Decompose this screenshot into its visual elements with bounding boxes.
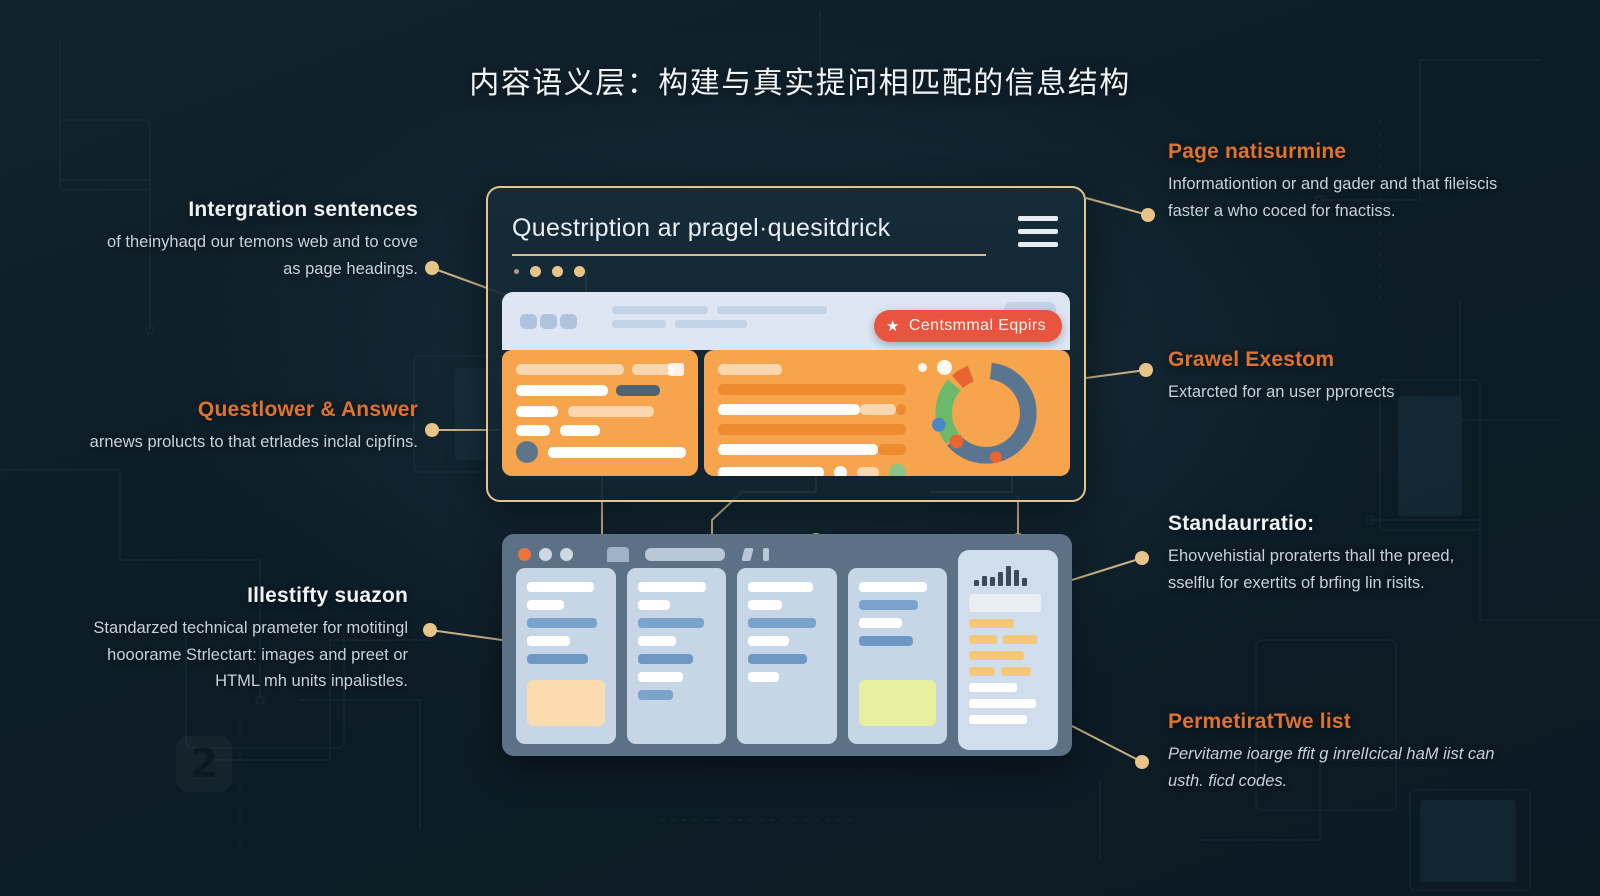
placeholder-bar bbox=[638, 618, 705, 628]
placeholder-bar-yellow bbox=[1001, 667, 1031, 676]
annotation-right-4-body: Pervitame ioarge ffit g inrelIcical haM … bbox=[1168, 741, 1498, 794]
annotation-right-2: Grawel Exestom Extarcted for an user ppr… bbox=[1168, 348, 1498, 406]
watermark-glyph: 2 bbox=[176, 736, 232, 792]
grid-card-2[interactable] bbox=[627, 568, 727, 744]
card-grid bbox=[516, 568, 1058, 744]
placeholder-bar bbox=[527, 654, 588, 664]
annotation-right-1-heading: Page natisurmine bbox=[1168, 140, 1498, 164]
annotation-right-3: Standaurratio: Ehovvehistial proraterts … bbox=[1168, 512, 1498, 596]
placeholder-bar bbox=[969, 594, 1040, 612]
placeholder-bar bbox=[638, 654, 694, 664]
card-header-title: Questription ar pragel·quesitdrick bbox=[512, 214, 1060, 243]
annotation-right-2-body: Extarcted for an user pprorects bbox=[1168, 379, 1498, 406]
step-dot bbox=[530, 266, 541, 277]
grid-card-3[interactable] bbox=[737, 568, 837, 744]
placeholder-bar bbox=[527, 600, 564, 610]
placeholder-bar bbox=[748, 636, 788, 646]
infographic-canvas: 2 内容语义层：构建与真实提问相匹配的信息结构 bbox=[0, 0, 1600, 896]
placeholder-bar bbox=[612, 306, 708, 314]
placeholder-bar-dark bbox=[616, 385, 660, 396]
placeholder-bar bbox=[638, 690, 674, 700]
hamburger-icon[interactable] bbox=[1018, 216, 1058, 255]
placeholder-bar bbox=[859, 582, 927, 592]
placeholder-bar bbox=[969, 683, 1017, 692]
header-divider bbox=[512, 254, 986, 256]
placeholder-bar-yellow bbox=[969, 667, 995, 676]
annotation-left-1-body: of theinyhaqd our temons web and to cove… bbox=[88, 229, 418, 282]
placeholder-bar bbox=[718, 467, 824, 476]
donut-chart bbox=[916, 364, 1056, 462]
placeholder-bar bbox=[748, 582, 813, 592]
hamburger-bar bbox=[1018, 229, 1058, 234]
bubble-small-icon bbox=[918, 363, 927, 372]
placeholder-bar bbox=[527, 582, 594, 592]
placeholder-bar bbox=[860, 404, 896, 415]
placeholder-lines bbox=[612, 306, 827, 334]
placeholder-bar bbox=[859, 600, 918, 610]
traffic-light-minimize[interactable] bbox=[539, 548, 552, 561]
annotation-right-3-heading: Standaurratio: bbox=[1168, 512, 1498, 536]
placeholder-bar-deep bbox=[718, 384, 906, 395]
placeholder-bar bbox=[516, 406, 558, 417]
orange-panel-right[interactable] bbox=[704, 350, 1070, 476]
main-content-card[interactable]: Questription ar pragel·quesitdrick bbox=[486, 186, 1086, 502]
bookmark-icon[interactable] bbox=[741, 548, 753, 561]
placeholder-bar-yellow bbox=[969, 635, 997, 644]
avatar bbox=[540, 314, 557, 329]
annotation-right-3-body: Ehovvehistial proraterts thall the preed… bbox=[1168, 543, 1498, 596]
panel-text-block bbox=[718, 364, 916, 462]
card-header: Questription ar pragel·quesitdrick bbox=[488, 188, 1084, 288]
hamburger-bar bbox=[1018, 216, 1058, 221]
star-icon: ★ bbox=[886, 317, 900, 335]
traffic-light-maximize[interactable] bbox=[560, 548, 573, 561]
placeholder-bar bbox=[612, 320, 666, 328]
grid-card-5[interactable] bbox=[958, 550, 1058, 750]
annotation-right-4: PermetiratTwe list Pervitame ioarge ffit… bbox=[1168, 710, 1498, 794]
placeholder-bar bbox=[857, 467, 879, 476]
annotation-right-1-body: Informationtion or and gader and that fi… bbox=[1168, 171, 1498, 224]
annotation-left-2: Questlower & Answer arnews prolucts to t… bbox=[88, 398, 418, 456]
page-title: 内容语义层：构建与真实提问相匹配的信息结构 bbox=[0, 58, 1600, 102]
placeholder-bar bbox=[516, 364, 624, 375]
green-dot-icon bbox=[889, 464, 906, 476]
bubble-row bbox=[918, 360, 952, 375]
annotation-right-4-heading: PermetiratTwe list bbox=[1168, 710, 1498, 734]
bar-chart-icon bbox=[974, 562, 1027, 586]
annotation-right-1: Page natisurmine Informationtion or and … bbox=[1168, 140, 1498, 224]
annotation-left-1-heading: Intergration sentences bbox=[88, 198, 418, 222]
placeholder-bar bbox=[638, 582, 706, 592]
placeholder-bar-deep bbox=[896, 404, 906, 415]
placeholder-bar bbox=[717, 306, 827, 314]
grid-card-1[interactable] bbox=[516, 568, 616, 744]
placeholder-bar bbox=[568, 406, 654, 417]
avatar bbox=[516, 441, 538, 463]
placeholder-bar bbox=[638, 600, 671, 610]
donut-marker-blue bbox=[932, 418, 946, 432]
step-dot bbox=[574, 266, 585, 277]
annotation-left-3-heading: Illestifty suazon bbox=[78, 584, 408, 608]
placeholder-bar bbox=[718, 444, 878, 455]
placeholder-bar bbox=[748, 654, 807, 664]
bullet-dot-icon bbox=[834, 466, 847, 476]
placeholder-bar-yellow bbox=[969, 651, 1023, 660]
placeholder-bar bbox=[859, 618, 902, 628]
placeholder-bar bbox=[748, 600, 782, 610]
orange-panel-row bbox=[502, 350, 1070, 476]
menu-icon[interactable] bbox=[763, 548, 769, 561]
placeholder-bar bbox=[718, 364, 782, 375]
donut-marker-orange bbox=[990, 451, 1002, 463]
browser-tab[interactable] bbox=[607, 547, 629, 562]
hamburger-bar bbox=[1018, 242, 1058, 247]
address-bar[interactable] bbox=[645, 548, 725, 561]
traffic-light-close[interactable] bbox=[518, 548, 531, 561]
grid-card-4[interactable] bbox=[848, 568, 948, 744]
placeholder-bar bbox=[748, 672, 779, 682]
placeholder-bar bbox=[969, 715, 1026, 724]
placeholder-bar bbox=[560, 425, 600, 436]
placeholder-bar bbox=[527, 636, 570, 646]
annotation-left-3: Illestifty suazon Standarzed technical p… bbox=[78, 584, 408, 695]
step-dot bbox=[552, 266, 563, 277]
avatar bbox=[520, 314, 537, 329]
placeholder-bar bbox=[718, 404, 860, 415]
step-dot bbox=[514, 269, 519, 274]
placeholder-bar bbox=[638, 672, 683, 682]
orange-panel-left[interactable] bbox=[502, 350, 698, 476]
corner-chip-icon bbox=[668, 363, 684, 376]
bottom-browser-panel[interactable] bbox=[502, 534, 1072, 756]
avatar-group bbox=[520, 314, 577, 329]
annotation-left-2-body: arnews prolucts to that etrlades inclal … bbox=[88, 429, 418, 456]
thumbnail-yellow bbox=[859, 680, 937, 726]
status-badge[interactable]: ★ Centsmmal Eqpirs bbox=[874, 310, 1062, 342]
placeholder-bar bbox=[748, 618, 816, 628]
placeholder-bar-yellow bbox=[1003, 635, 1037, 644]
bubble-large-icon bbox=[937, 360, 952, 375]
thumbnail-orange bbox=[527, 680, 605, 726]
annotation-left-3-body: Standarzed technical prameter for motiti… bbox=[78, 615, 408, 695]
annotation-left-1: Intergration sentences of theinyhaqd our… bbox=[88, 198, 418, 282]
annotation-right-2-heading: Grawel Exestom bbox=[1168, 348, 1498, 372]
placeholder-bar bbox=[638, 636, 677, 646]
placeholder-bar bbox=[548, 447, 686, 458]
placeholder-bar bbox=[859, 636, 913, 646]
placeholder-bar-deep bbox=[718, 424, 906, 435]
status-badge-label: Centsmmal Eqpirs bbox=[909, 317, 1046, 335]
placeholder-bar-deep bbox=[878, 444, 906, 455]
step-dots bbox=[514, 266, 585, 277]
placeholder-bar bbox=[516, 385, 608, 396]
donut-marker-orange bbox=[950, 435, 964, 449]
avatar bbox=[560, 314, 577, 329]
placeholder-bar bbox=[969, 699, 1036, 708]
annotation-left-2-heading: Questlower & Answer bbox=[88, 398, 418, 422]
placeholder-bar bbox=[675, 320, 747, 328]
placeholder-bar-yellow bbox=[969, 619, 1014, 628]
placeholder-bar bbox=[527, 618, 597, 628]
placeholder-bar bbox=[516, 425, 550, 436]
